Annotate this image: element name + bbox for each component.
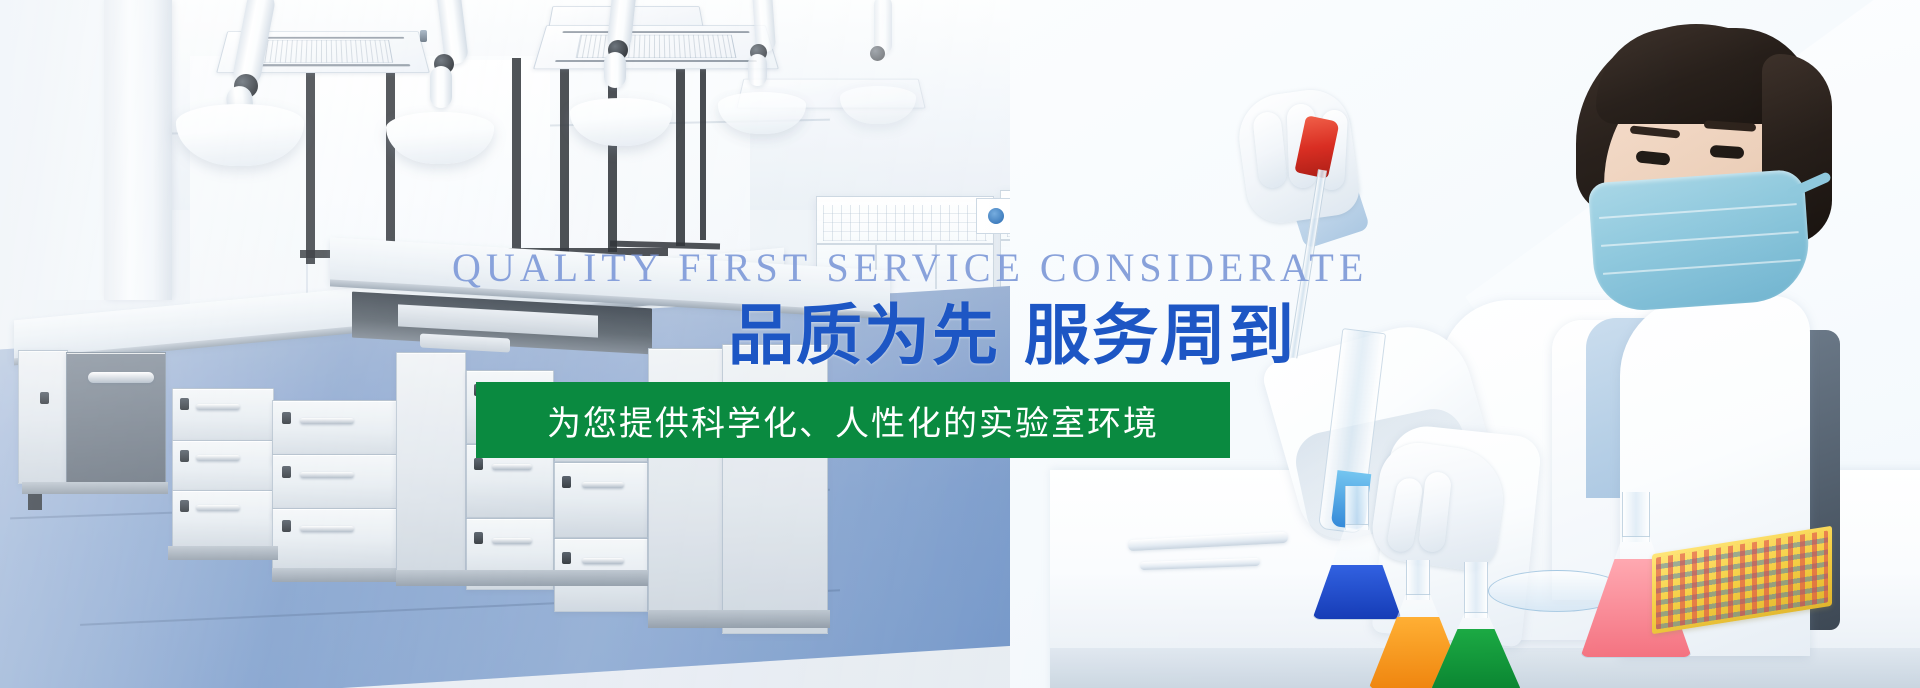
drawer-lock bbox=[282, 412, 291, 424]
flask-liquid bbox=[1431, 629, 1521, 688]
mask-pleat bbox=[1603, 259, 1801, 275]
cabinet-plinth bbox=[272, 568, 400, 582]
lab-bench-cabinet bbox=[18, 350, 68, 484]
lab-drawer bbox=[172, 490, 274, 550]
lab-drawer bbox=[272, 508, 398, 572]
lab-drawer bbox=[554, 462, 648, 538]
drawer-lock bbox=[180, 500, 189, 512]
drawer-lock bbox=[180, 450, 189, 462]
cabinet-plinth bbox=[168, 546, 278, 560]
window-mullion bbox=[700, 68, 706, 240]
logo-circle-icon bbox=[988, 208, 1004, 224]
drawer-lock bbox=[562, 552, 571, 564]
arm-joint bbox=[870, 46, 885, 61]
subtitle-green-banner: 为您提供科学化、人性化的实验室环境 bbox=[476, 382, 1230, 458]
drawer-handle bbox=[196, 455, 240, 461]
hero-banner: QUALITY FIRST SERVICE CONSIDERATE 品质为先服务… bbox=[0, 0, 1920, 688]
drawer-handle bbox=[492, 538, 532, 544]
headline-part-1: 品质为先 bbox=[728, 297, 1000, 374]
drawer-lock bbox=[180, 398, 189, 410]
arm-segment bbox=[604, 52, 626, 88]
drawer-handle bbox=[300, 418, 354, 424]
headline-part-2: 服务周到 bbox=[1024, 297, 1296, 374]
mask-pleat bbox=[1601, 231, 1799, 247]
window-mullion bbox=[512, 58, 521, 256]
mask-pleat bbox=[1599, 203, 1797, 219]
window-mullion bbox=[560, 60, 569, 254]
cabinet-plinth bbox=[396, 570, 648, 586]
left-wall-panel bbox=[0, 0, 110, 300]
drawer-lock bbox=[474, 532, 483, 544]
drawer-handle bbox=[196, 404, 240, 410]
drawer-lock bbox=[474, 458, 483, 470]
arm-segment bbox=[231, 0, 277, 88]
drawer-handle bbox=[196, 505, 240, 511]
window-mullion bbox=[386, 58, 395, 258]
shelf-mesh bbox=[823, 205, 987, 241]
drawer-handle bbox=[582, 558, 624, 564]
flask-neck bbox=[1464, 562, 1488, 618]
surgical-mask bbox=[1588, 169, 1813, 314]
eye bbox=[1710, 145, 1745, 159]
fume-extraction-arm bbox=[400, 0, 510, 130]
headline: 品质为先服务周到 bbox=[728, 300, 1296, 371]
flask-neck bbox=[1622, 492, 1650, 542]
drawer-handle bbox=[582, 482, 624, 488]
subtitle-text: 为您提供科学化、人性化的实验室环境 bbox=[547, 396, 1159, 445]
cabinet-plinth bbox=[648, 610, 830, 628]
cabinet-plinth bbox=[22, 482, 168, 494]
english-tagline: QUALITY FIRST SERVICE CONSIDERATE bbox=[452, 248, 1368, 288]
cabinet-foot bbox=[28, 494, 42, 510]
structural-column bbox=[104, 0, 172, 300]
flask-body bbox=[1430, 612, 1522, 688]
lab-bench-cabinet bbox=[396, 352, 466, 572]
arm-segment bbox=[430, 66, 452, 108]
flask-neck bbox=[1345, 486, 1369, 530]
drawer-handle bbox=[492, 464, 532, 470]
drawer-handle bbox=[300, 472, 354, 478]
drawer-handle bbox=[300, 526, 354, 532]
drawer-lock bbox=[282, 520, 291, 532]
cabinet-handle bbox=[88, 372, 154, 383]
arm-segment bbox=[748, 54, 767, 86]
drawer-lock bbox=[562, 476, 571, 488]
cabinet-lock bbox=[40, 392, 49, 404]
drawer-lock bbox=[282, 466, 291, 478]
